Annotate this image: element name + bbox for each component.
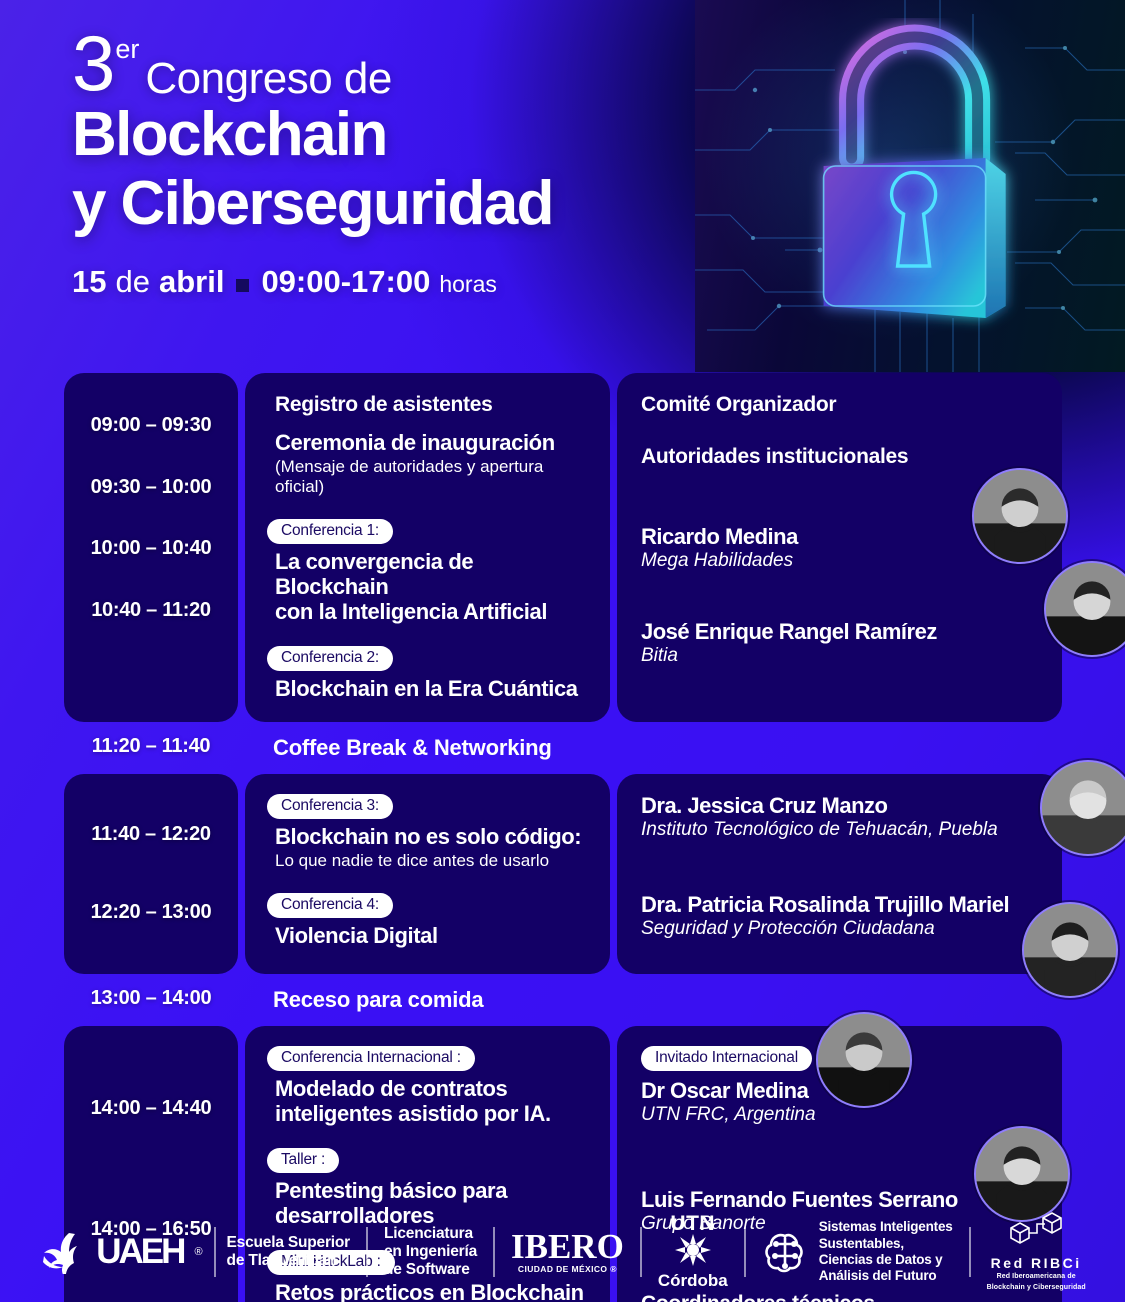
- uaeh-subtitle-line1: Escuela Superior: [227, 1234, 350, 1252]
- agenda-grid: 09:00 – 09:3009:30 – 10:0010:00 – 10:401…: [64, 373, 1064, 1302]
- sun-of-may-icon: [675, 1234, 711, 1266]
- utn-wordmark: UTN: [658, 1213, 728, 1234]
- portrait-oscar-medina: [818, 1014, 910, 1106]
- congress-word: Congreso de: [145, 54, 391, 104]
- agenda-time-cell: 09:00 – 09:3009:30 – 10:0010:00 – 10:401…: [64, 373, 238, 722]
- logo-utn: UTN Córdoba: [642, 1213, 744, 1291]
- utn-subtitle: Córdoba: [658, 1271, 728, 1291]
- blockchain-cubes-icon: [999, 1212, 1073, 1250]
- uaeh-bird-icon: [39, 1230, 85, 1274]
- logo-ribci: Red RIBCi Red Iberoamericana de Blockcha…: [971, 1212, 1102, 1293]
- avatar: [972, 468, 1068, 564]
- logo-ibero: IBERO CIUDAD DE MÉXICO ®: [495, 1230, 640, 1273]
- footer-logos: UAEH ® Escuela Superior de Tlahuelilpan …: [0, 1202, 1125, 1302]
- poster-root: 3 er Congreso de Blockchain y Cibersegur…: [0, 0, 1125, 1302]
- date-time-row: 15 de abril 09:00-17:00 horas: [72, 264, 712, 300]
- square-bullet-icon: [236, 279, 249, 292]
- speaker-name: José Enrique Rangel Ramírez: [641, 620, 1040, 645]
- licenciatura-line3: de Software: [384, 1261, 477, 1279]
- session-heading: Registro de asistentes: [267, 393, 592, 417]
- title-line-1: Blockchain: [72, 102, 712, 169]
- speaker-affiliation: UTN FRC, Argentina: [641, 1104, 1040, 1127]
- licenciatura-line2: en Ingeniería: [384, 1243, 477, 1261]
- session-title: Ceremonia de inauguración: [267, 431, 592, 456]
- agenda-break-title: Coffee Break & Networking: [245, 728, 1062, 768]
- session-subtitle: (Mensaje de autoridades y apertura ofici…: [267, 457, 592, 498]
- session-subtitle: Lo que nadie te dice antes de usarlo: [267, 851, 592, 871]
- time-slot: 09:30 – 10:00: [64, 476, 238, 499]
- time-slot: 12:20 – 13:00: [64, 901, 238, 924]
- agenda-people-cell: Comité OrganizadorAutoridades institucio…: [617, 373, 1062, 722]
- session-badge: Conferencia 3:: [267, 794, 393, 819]
- sistemas-line1: Sistemas Inteligentes: [819, 1219, 953, 1235]
- agenda-sessions-cell: Conferencia 3:Blockchain no es solo códi…: [245, 774, 610, 974]
- licenciatura-text: Licenciatura en Ingeniería de Software: [384, 1225, 477, 1280]
- date-month: abril: [159, 264, 224, 300]
- session-badge: Conferencia 2:: [267, 646, 393, 671]
- speaker-name: Dra. Jessica Cruz Manzo: [641, 794, 1040, 819]
- time-slot: 13:00 – 14:00: [64, 987, 238, 1010]
- session-title: La convergencia de Blockchaincon la Inte…: [267, 550, 592, 624]
- avatar: [816, 1012, 912, 1108]
- session-title: Modelado de contratosinteligentes asisti…: [267, 1077, 592, 1126]
- time-range: 09:00-17:00: [261, 264, 430, 300]
- time-slot: 14:00 – 14:40: [64, 1097, 238, 1120]
- time-slot: 11:40 – 12:20: [64, 823, 238, 846]
- padlock-circuit-illustration: [695, 0, 1125, 372]
- ribci-subtitle-1: Red Iberoamericana de: [987, 1273, 1086, 1282]
- sistemas-line2: Sustentables,: [819, 1236, 953, 1252]
- title-line-2: y Ciberseguridad: [72, 171, 712, 238]
- people-heading: Autoridades institucionales: [641, 445, 1040, 469]
- agenda-break-title: Receso para comida: [245, 980, 1062, 1020]
- uaeh-registered: ®: [194, 1246, 202, 1258]
- ribci-wordmark: Red RIBCi: [987, 1255, 1086, 1271]
- sistemas-line4: Análisis del Futuro: [819, 1268, 953, 1284]
- date-preposition: de: [115, 264, 149, 300]
- time-slot: 10:40 – 11:20: [64, 599, 238, 622]
- portrait-ricardo-medina: [974, 470, 1066, 562]
- agenda-sessions-cell: Registro de asistentesCeremonia de inaug…: [245, 373, 610, 722]
- logo-licenciatura: Licenciatura en Ingeniería de Software: [368, 1225, 493, 1280]
- uaeh-subtitle: Escuela Superior de Tlahuelilpan: [227, 1234, 350, 1271]
- session-badge: Taller :: [267, 1148, 339, 1173]
- ibero-subtitle: CIUDAD DE MÉXICO ®: [511, 1264, 624, 1274]
- logo-uaeh: UAEH ® Escuela Superior de Tlahuelilpan: [23, 1227, 366, 1277]
- time-slot: 09:00 – 09:30: [64, 414, 238, 437]
- date-day: 15: [72, 264, 106, 300]
- agenda-people-cell: Dra. Jessica Cruz ManzoInstituto Tecnoló…: [617, 774, 1062, 974]
- ibero-wordmark: IBERO: [511, 1230, 624, 1263]
- uaeh-wordmark: UAEH: [96, 1232, 183, 1272]
- divider: [214, 1227, 216, 1277]
- time-slot: 11:20 – 11:40: [64, 735, 238, 758]
- ordinal-suffix: er: [115, 34, 139, 65]
- licenciatura-line1: Licenciatura: [384, 1225, 477, 1243]
- people-heading: Comité Organizador: [641, 393, 1040, 417]
- sistemas-text: Sistemas Inteligentes Sustentables, Cien…: [819, 1219, 953, 1285]
- agenda-time-cell: 11:40 – 12:2012:20 – 13:00: [64, 774, 238, 974]
- portrait-jose-enrique-rangel: [1046, 563, 1125, 655]
- session-title: Violencia Digital: [267, 924, 592, 949]
- avatar: [1040, 760, 1125, 856]
- session-badge: Conferencia 4:: [267, 893, 393, 918]
- avatar: [1022, 902, 1118, 998]
- brain-circuit-icon: [762, 1230, 808, 1274]
- session-title: Blockchain en la Era Cuántica: [267, 677, 592, 702]
- avatar: [1044, 561, 1125, 657]
- hero-section: 3 er Congreso de Blockchain y Cibersegur…: [0, 0, 1125, 368]
- speaker-name: Dra. Patricia Rosalinda Trujillo Mariel: [641, 893, 1040, 918]
- speaker-affiliation: Instituto Tecnológico de Tehuacán, Puebl…: [641, 819, 1040, 842]
- people-badge: Invitado Internacional: [641, 1046, 812, 1071]
- time-unit: horas: [439, 271, 497, 298]
- sistemas-line3: Ciencias de Datos y: [819, 1252, 953, 1268]
- ribci-subtitle-2: Blockchain y Ciberseguridad: [987, 1284, 1086, 1293]
- session-badge: Conferencia 1:: [267, 519, 393, 544]
- ordinal-number: 3: [72, 28, 113, 100]
- time-slot: 10:00 – 10:40: [64, 537, 238, 560]
- agenda-time-cell: 13:00 – 14:00: [64, 980, 238, 1020]
- title-block: 3 er Congreso de Blockchain y Cibersegur…: [72, 28, 712, 300]
- speaker-affiliation: Seguridad y Protección Ciudadana: [641, 918, 1040, 941]
- session-title: Blockchain no es solo código:: [267, 825, 592, 850]
- padlock-icon: [800, 18, 1030, 353]
- ordinal-line: 3 er Congreso de: [72, 28, 712, 104]
- portrait-patricia-trujillo-mariel: [1024, 904, 1116, 996]
- session-badge: Conferencia Internacional :: [267, 1046, 475, 1071]
- speaker-affiliation: Bitia: [641, 645, 1040, 668]
- logo-sistemas-inteligentes: Sistemas Inteligentes Sustentables, Cien…: [746, 1219, 969, 1285]
- uaeh-subtitle-line2: de Tlahuelilpan: [227, 1252, 350, 1270]
- portrait-jessica-cruz-manzo: [1042, 762, 1125, 854]
- agenda-time-cell: 11:20 – 11:40: [64, 728, 238, 768]
